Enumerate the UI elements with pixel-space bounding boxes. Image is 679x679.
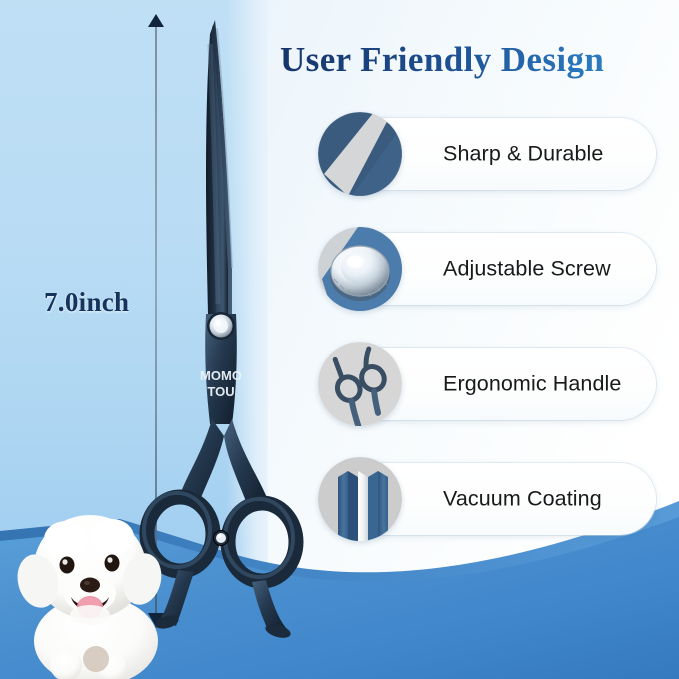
brand-text-line2: TOU (207, 384, 234, 399)
feature-label: Ergonomic Handle (443, 372, 621, 397)
feature-row-sharp-durable[interactable]: Sharp & Durable (318, 112, 663, 196)
feature-label: Sharp & Durable (443, 142, 603, 167)
page-title: User Friendly Design (280, 40, 670, 80)
feature-label: Vacuum Coating (443, 487, 602, 512)
coated-blades-icon (318, 457, 402, 541)
feature-row-adjustable-screw[interactable]: Adjustable Screw (318, 227, 663, 311)
measurement-label: 7.0inch (44, 287, 129, 318)
feature-list: Sharp & Durable (318, 112, 663, 572)
chrome-screw-icon (318, 227, 402, 311)
feature-row-ergonomic-handle[interactable]: Ergonomic Handle (318, 342, 663, 426)
brand-text-line1: MOMO (200, 368, 242, 383)
scissor-handle-icon (318, 342, 402, 426)
bichon-frise-dog (8, 489, 178, 679)
blade-edge-icon (318, 112, 402, 196)
feature-row-vacuum-coating[interactable]: Vacuum Coating (318, 457, 663, 541)
infographic-canvas: 7.0inch (0, 0, 679, 679)
feature-label: Adjustable Screw (443, 257, 611, 282)
